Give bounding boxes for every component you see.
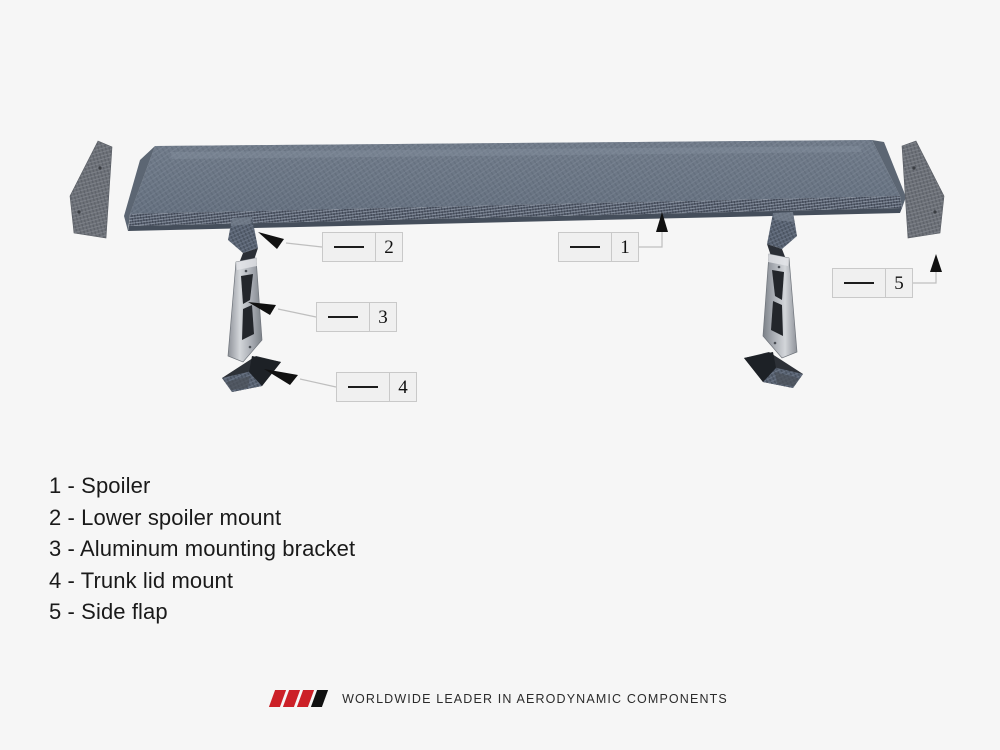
footer-branding: WORLDWIDE LEADER IN AERODYNAMIC COMPONEN… xyxy=(0,690,1000,707)
legend-item-3: 3 - Aluminum mounting bracket xyxy=(49,533,529,565)
side-flap-left xyxy=(70,141,112,238)
trunk-lid-mount-right xyxy=(744,352,803,388)
callout-number-5: 5 xyxy=(886,269,912,297)
logo-bar-black xyxy=(311,690,328,707)
side-flap-right xyxy=(902,141,944,238)
strut-assembly-right xyxy=(744,212,803,388)
callout-box-4[interactable]: 4 xyxy=(336,372,417,402)
footer-tagline: WORLDWIDE LEADER IN AERODYNAMIC COMPONEN… xyxy=(342,692,728,706)
aluminum-bracket-left xyxy=(228,258,262,362)
callout-number-3: 3 xyxy=(370,303,396,331)
callout-box-5[interactable]: 5 xyxy=(832,268,913,298)
spoiler-assembly-illustration xyxy=(0,0,1000,750)
callout-number-4: 4 xyxy=(390,373,416,401)
brand-logo-icon xyxy=(272,690,328,707)
legend-item-5: 5 - Side flap xyxy=(49,596,529,628)
callout-dash-5 xyxy=(833,269,886,297)
callout-box-1[interactable]: 1 xyxy=(558,232,639,262)
component-legend: 1 - Spoiler 2 - Lower spoiler mount 3 - … xyxy=(49,470,529,628)
callout-box-2[interactable]: 2 xyxy=(322,232,403,262)
legend-item-1: 1 - Spoiler xyxy=(49,470,529,502)
diagram-canvas: 2 1 3 4 5 1 - Spoiler 2 - Lower spoiler … xyxy=(0,0,1000,750)
callout-number-1: 1 xyxy=(612,233,638,261)
callout-dash-3 xyxy=(317,303,370,331)
aluminum-bracket-right xyxy=(763,254,797,358)
callout-dash-4 xyxy=(337,373,390,401)
callout-dash-1 xyxy=(559,233,612,261)
callout-number-2: 2 xyxy=(376,233,402,261)
callout-box-3[interactable]: 3 xyxy=(316,302,397,332)
legend-item-4: 4 - Trunk lid mount xyxy=(49,565,529,597)
callout-dash-2 xyxy=(323,233,376,261)
legend-item-2: 2 - Lower spoiler mount xyxy=(49,502,529,534)
